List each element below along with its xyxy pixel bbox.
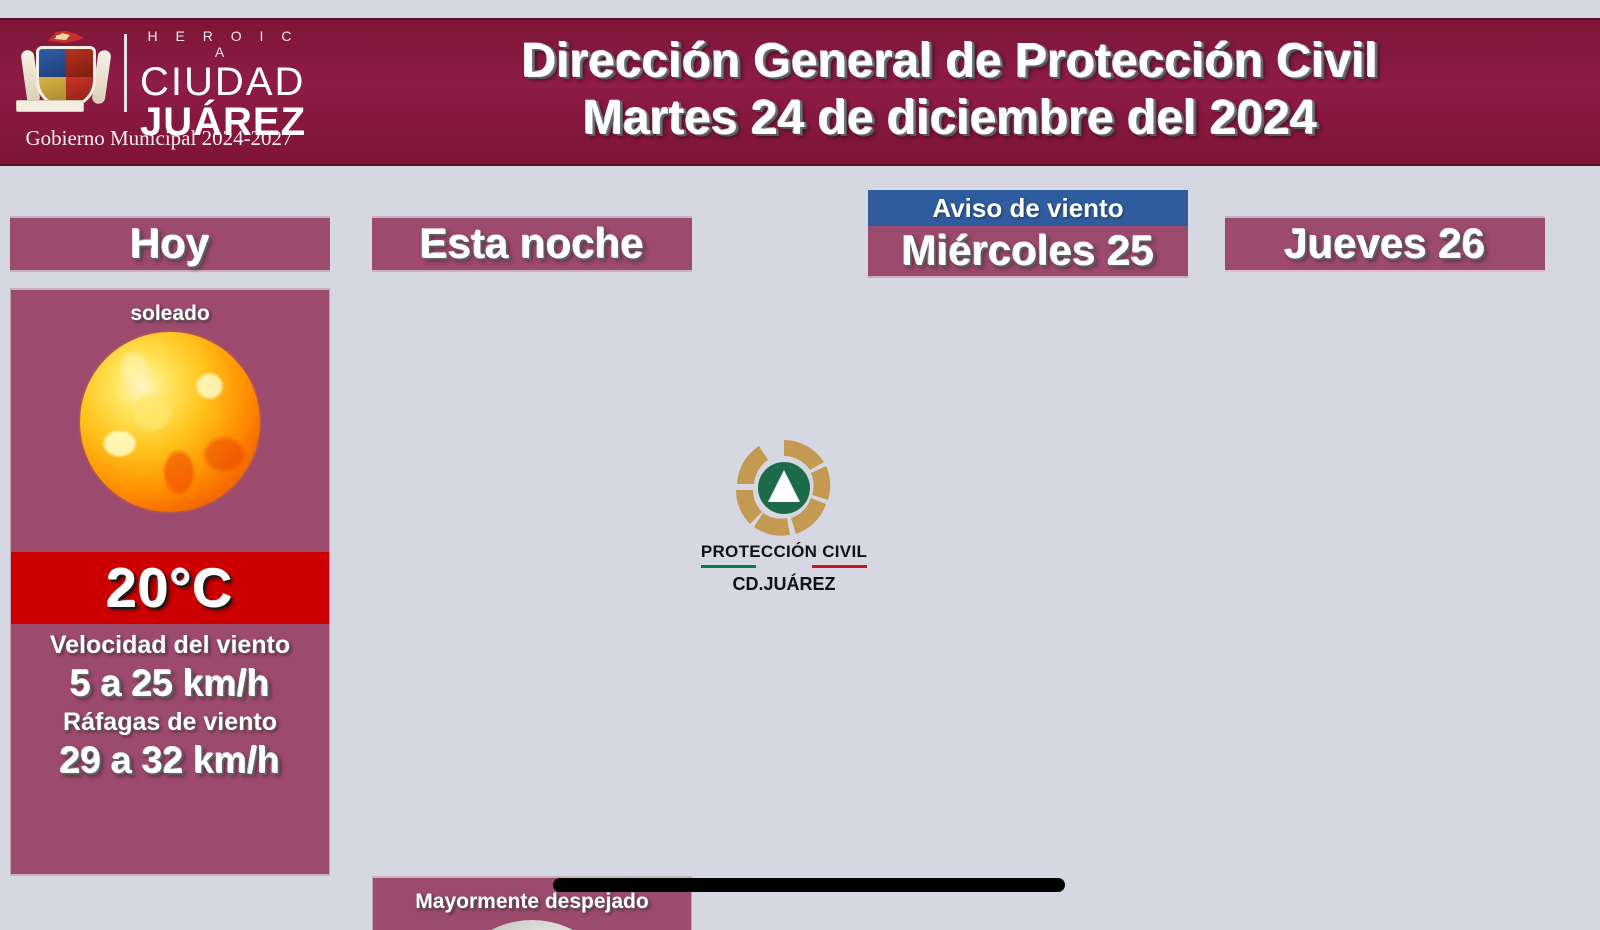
condition-text: soleado: [11, 290, 329, 326]
logo-name: PROTECCIÓN CIVIL: [694, 542, 874, 562]
logo-city: CD.JUÁREZ: [694, 574, 874, 595]
moon-icon: [443, 920, 621, 930]
high-temp-row: 20°C: [11, 552, 329, 624]
forecast-body-hoy: soleado 20°C Velocidad del viento 5 a 25…: [10, 288, 330, 876]
coat-of-arms-icon: [20, 28, 112, 128]
crest-helm-icon: [46, 29, 86, 46]
forecast-card-jueves-26[interactable]: Jueves 26: [1225, 216, 1545, 272]
brand-divider: [124, 34, 127, 112]
brand-ciudad: CIUDAD: [140, 62, 300, 102]
wind-advisory-banner: Aviso de viento: [868, 190, 1188, 226]
header-title-block: Dirección General de Protección Civil Ma…: [300, 20, 1600, 164]
brand-heroica: H E R O I C A: [140, 28, 300, 60]
day-label: Hoy: [130, 221, 209, 267]
wind-gust-value: 29 a 32 km/h: [11, 738, 329, 784]
weather-infographic: H E R O I C A CIUDAD JUÁREZ Gobierno Mun…: [0, 0, 1600, 930]
municipal-brand: H E R O I C A CIUDAD JUÁREZ Gobierno Mun…: [0, 20, 300, 164]
day-header-hoy: Hoy: [10, 216, 330, 272]
day-label: Esta noche: [420, 221, 644, 267]
day-header-jueves-26: Jueves 26: [1225, 216, 1545, 272]
day-label: Jueves 26: [1285, 221, 1486, 267]
day-header-esta-noche: Esta noche: [372, 216, 692, 272]
high-temp-value: 20°C: [107, 559, 234, 617]
proteccion-civil-icon: [732, 436, 836, 540]
page-date: Martes 24 de diciembre del 2024: [583, 90, 1317, 147]
horizontal-scrollbar[interactable]: [553, 878, 1065, 892]
wind-block: Velocidad del viento 5 a 25 km/h Ráfagas…: [11, 624, 329, 784]
logo-tricolor-rule: [701, 565, 867, 568]
crest-shield: [36, 46, 96, 108]
forecast-card-miercoles-25[interactable]: Aviso de viento Miércoles 25: [868, 190, 1188, 278]
forecast-card-hoy[interactable]: Hoy: [10, 216, 330, 272]
wind-gust-label: Ráfagas de viento: [11, 707, 329, 738]
wind-speed-label: Velocidad del viento: [11, 630, 329, 661]
brand-gobierno: Gobierno Municipal 2024-2027: [18, 126, 300, 151]
forecast-card-esta-noche[interactable]: Esta noche: [372, 216, 692, 272]
page-header: H E R O I C A CIUDAD JUÁREZ Gobierno Mun…: [0, 18, 1600, 166]
day-header-miercoles-25: Miércoles 25: [868, 226, 1188, 278]
page-title: Dirección General de Protección Civil: [522, 33, 1378, 90]
crest-scroll: [16, 100, 84, 112]
wind-speed-value: 5 a 25 km/h: [11, 661, 329, 707]
sun-icon: [80, 332, 260, 512]
day-label: Miércoles 25: [902, 228, 1154, 274]
proteccion-civil-logo: PROTECCIÓN CIVIL CD.JUÁREZ: [694, 436, 874, 595]
